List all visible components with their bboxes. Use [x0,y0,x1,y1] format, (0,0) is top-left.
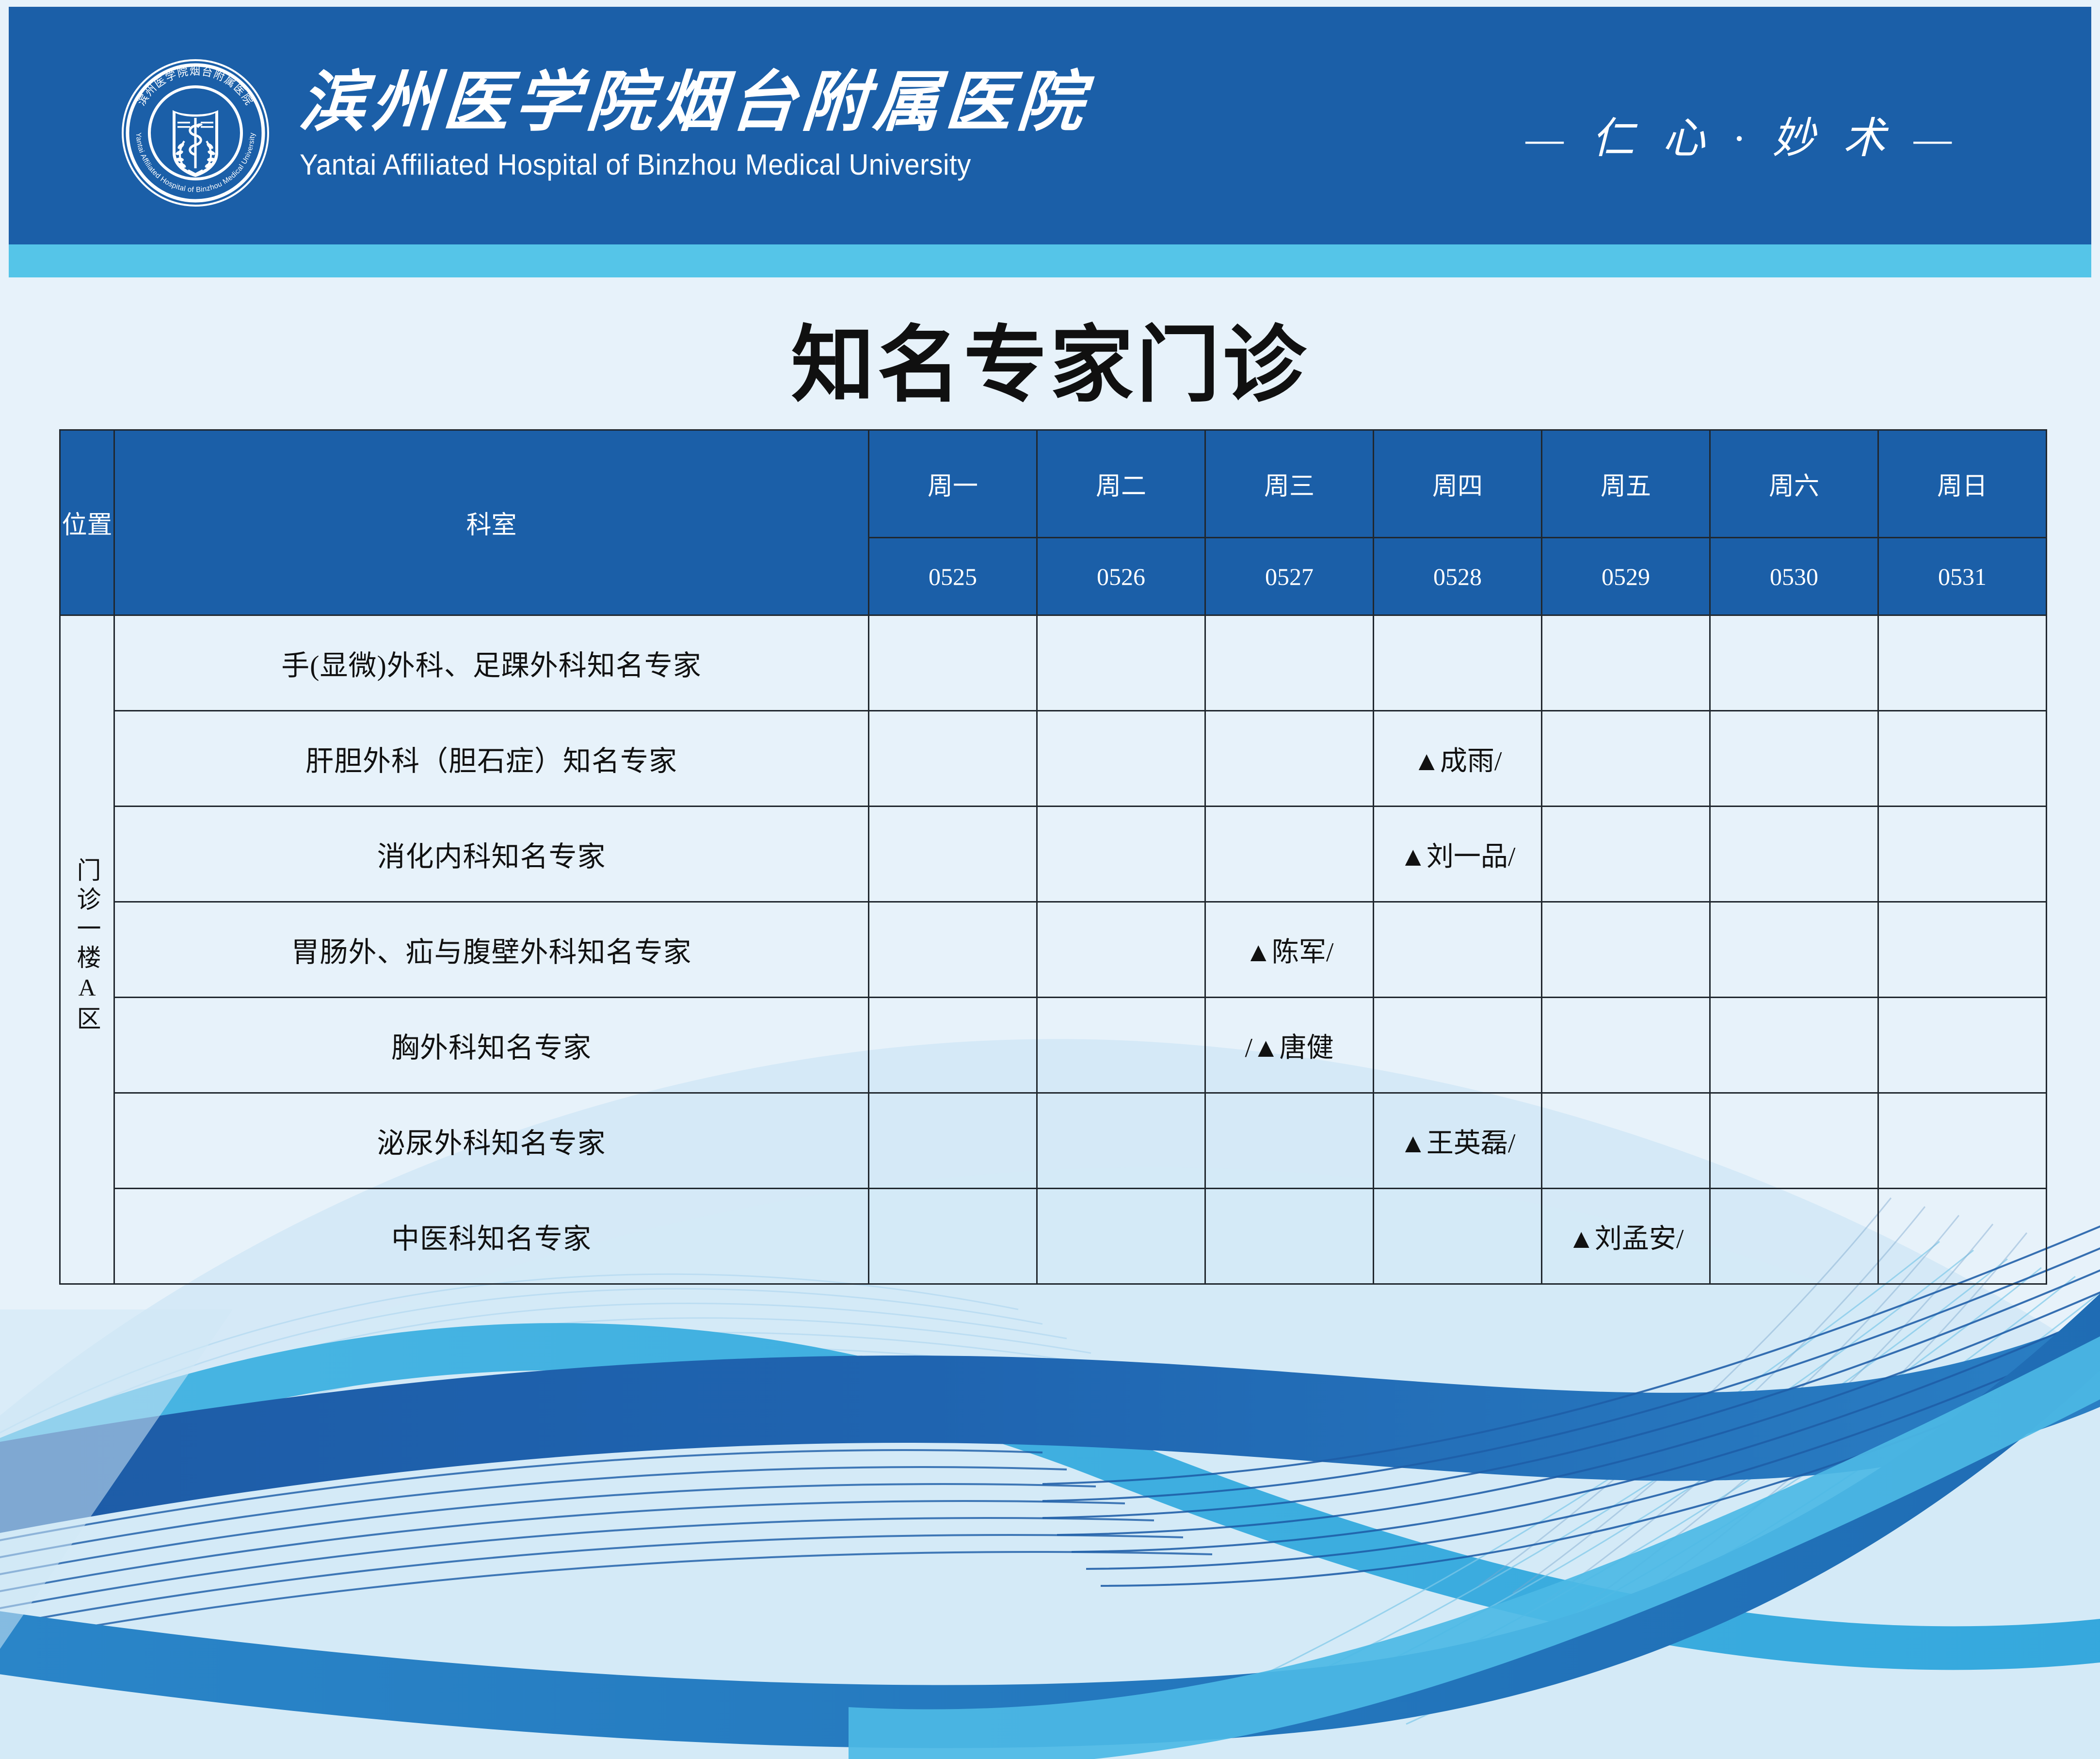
schedule-cell [1710,615,1878,711]
table-row: 中医科知名专家▲刘孟安/ [60,1189,2047,1284]
poster-page: 滨州医学院烟台附属医院 Yantai Affiliated Hospital o… [0,0,2100,1759]
hospital-logo-icon: 滨州医学院烟台附属医院 Yantai Affiliated Hospital o… [120,58,271,208]
col-header-date-2: 0526 [1037,538,1205,615]
schedule-cell [1205,1093,1374,1189]
table-body: 门诊一楼A区手(显微)外科、足踝外科知名专家肝胆外科（胆石症）知名专家▲成雨/消… [60,615,2047,1284]
schedule-cell [1037,1189,1205,1284]
schedule-cell [1542,998,1710,1093]
schedule-cell [1374,902,1542,998]
col-header-date-6: 0530 [1710,538,1878,615]
col-header-date-3: 0527 [1205,538,1374,615]
schedule-cell [1710,807,1878,902]
col-header-date-7: 0531 [1878,538,2047,615]
schedule-cell [1878,1093,2047,1189]
table-row: 胸外科知名专家/▲唐健 [60,998,2047,1093]
department-cell: 消化内科知名专家 [114,807,869,902]
col-header-day-2: 周二 [1037,430,1205,538]
department-cell: 中医科知名专家 [114,1189,869,1284]
department-cell: 肝胆外科（胆石症）知名专家 [114,711,869,807]
department-cell: 泌尿外科知名专家 [114,1093,869,1189]
schedule-cell: ▲刘孟安/ [1542,1189,1710,1284]
header-row-days: 位置 科室 周一 周二 周三 周四 周五 周六 周日 [60,430,2047,538]
schedule-cell [1037,902,1205,998]
schedule-cell [1710,1189,1878,1284]
hospital-name-block: 滨州医学院烟台附属医院 Yantai Affiliated Hospital o… [300,65,1089,182]
schedule-cell [1037,711,1205,807]
table-row: 消化内科知名专家▲刘一品/ [60,807,2047,902]
location-cell: 门诊一楼A区 [60,615,114,1284]
page-title: 知名专家门诊 [0,297,2100,418]
department-cell: 胸外科知名专家 [114,998,869,1093]
table-row: 泌尿外科知名专家▲王英磊/ [60,1093,2047,1189]
col-header-day-3: 周三 [1205,430,1374,538]
schedule-cell [1710,711,1878,807]
schedule-cell: ▲成雨/ [1374,711,1542,807]
schedule-cell [1710,1093,1878,1189]
schedule-cell [1710,998,1878,1093]
header-accent-band [9,244,2091,277]
schedule-table: 位置 科室 周一 周二 周三 周四 周五 周六 周日 0525 0526 052… [59,429,2047,1285]
department-cell: 手(显微)外科、足踝外科知名专家 [114,615,869,711]
schedule-cell [869,807,1037,902]
schedule-cell [869,615,1037,711]
location-label: 门诊一楼A区 [72,857,103,1035]
schedule-cell [1374,615,1542,711]
schedule-cell [1542,902,1710,998]
schedule-cell: ▲刘一品/ [1374,807,1542,902]
col-header-day-4: 周四 [1374,430,1542,538]
schedule-cell [869,711,1037,807]
schedule-cell [1037,1093,1205,1189]
schedule-cell [1542,615,1710,711]
schedule-cell [869,1189,1037,1284]
schedule-cell [1542,711,1710,807]
schedule-cell [1878,711,2047,807]
schedule-cell [1878,902,2047,998]
col-header-day-5: 周五 [1542,430,1710,538]
col-header-day-6: 周六 [1710,430,1878,538]
schedule-cell [1542,807,1710,902]
schedule-cell [1037,807,1205,902]
schedule-cell: ▲王英磊/ [1374,1093,1542,1189]
col-header-date-4: 0528 [1374,538,1542,615]
col-header-day-1: 周一 [869,430,1037,538]
schedule-cell [869,902,1037,998]
schedule-cell [1037,615,1205,711]
col-header-day-7: 周日 [1878,430,2047,538]
col-header-date-5: 0529 [1542,538,1710,615]
page-header: 滨州医学院烟台附属医院 Yantai Affiliated Hospital o… [9,7,2091,244]
col-header-department: 科室 [114,430,869,615]
schedule-cell [1205,615,1374,711]
schedule-cell [1037,998,1205,1093]
col-header-date-1: 0525 [869,538,1037,615]
schedule-cell [1710,902,1878,998]
schedule-cell [1878,615,2047,711]
schedule-cell [1878,1189,2047,1284]
schedule-cell [1374,1189,1542,1284]
table-row: 肝胆外科（胆石症）知名专家▲成雨/ [60,711,2047,807]
hospital-name-cn: 滨州医学院烟台附属医院 [297,65,1092,139]
schedule-cell: ▲陈军/ [1205,902,1374,998]
schedule-cell: /▲唐健 [1205,998,1374,1093]
hospital-slogan: — 仁 心 · 妙 术 — [1526,104,1961,165]
schedule-cell [1205,1189,1374,1284]
schedule-cell [1374,998,1542,1093]
table-row: 胃肠外、疝与腹壁外科知名专家▲陈军/ [60,902,2047,998]
schedule-cell [869,998,1037,1093]
schedule-cell [1205,807,1374,902]
schedule-table-wrapper: 位置 科室 周一 周二 周三 周四 周五 周六 周日 0525 0526 052… [59,429,2046,1285]
col-header-position: 位置 [60,430,114,615]
table-head: 位置 科室 周一 周二 周三 周四 周五 周六 周日 0525 0526 052… [60,430,2047,615]
schedule-cell [1878,807,2047,902]
department-cell: 胃肠外、疝与腹壁外科知名专家 [114,902,869,998]
hospital-name-en: Yantai Affiliated Hospital of Binzhou Me… [300,147,1042,182]
schedule-cell [1542,1093,1710,1189]
schedule-cell [869,1093,1037,1189]
table-row: 门诊一楼A区手(显微)外科、足踝外科知名专家 [60,615,2047,711]
schedule-cell [1205,711,1374,807]
schedule-cell [1878,998,2047,1093]
